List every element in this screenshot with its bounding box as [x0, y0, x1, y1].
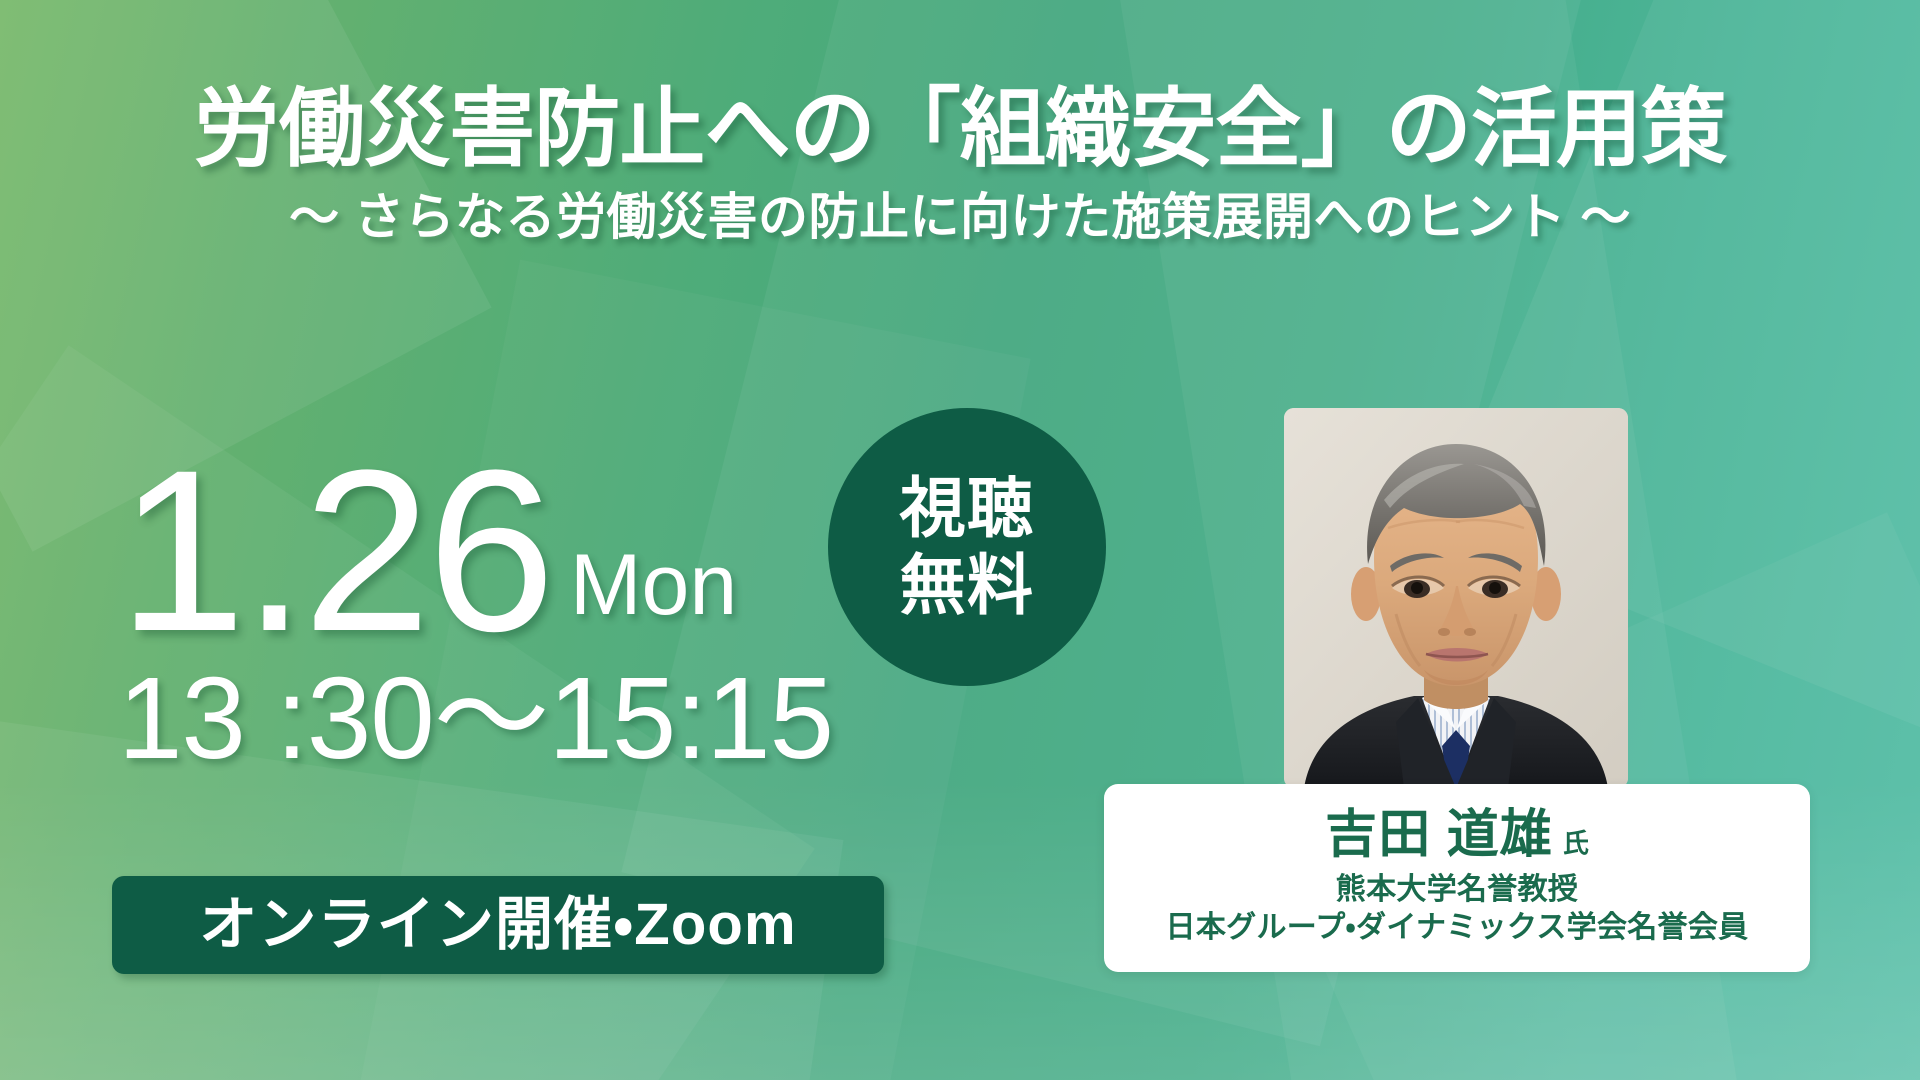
- headline-block: 労働災害防止への「組織安全」の活用策 ～ さらなる労働災害の防止に向けた施策展開…: [0, 86, 1920, 242]
- page-title: 労働災害防止への「組織安全」の活用策: [0, 86, 1920, 172]
- speaker-affiliation-line1: 熊本大学名誉教授: [1336, 871, 1578, 909]
- event-date: 1.26: [118, 452, 552, 650]
- free-viewing-label-line1: 視聴: [900, 470, 1035, 547]
- free-viewing-label-line2: 無料: [900, 547, 1035, 624]
- portrait-photo-icon: [1284, 408, 1628, 788]
- event-date-block: 1.26 Mon 13 :30〜15:15: [118, 452, 833, 776]
- speaker-photo: [1284, 408, 1628, 788]
- speaker-honorific: 氏: [1563, 830, 1589, 856]
- webinar-banner: 労働災害防止への「組織安全」の活用策 ～ さらなる労働災害の防止に向けた施策展開…: [0, 0, 1920, 1080]
- online-format-label: オンライン開催・Zoom: [199, 896, 797, 954]
- event-day-of-week: Mon: [570, 542, 737, 628]
- speaker-name: 吉田 道雄: [1325, 809, 1553, 861]
- online-format-badge: オンライン開催・Zoom: [112, 876, 884, 974]
- free-viewing-badge: 視聴 無料: [828, 408, 1106, 686]
- page-subtitle: ～ さらなる労働災害の防止に向けた施策展開へのヒント ～: [0, 192, 1920, 242]
- speaker-info-card: 吉田 道雄 氏 熊本大学名誉教授 日本グループ・ダイナミックス学会名誉会員: [1104, 784, 1810, 972]
- event-date-row: 1.26 Mon: [118, 452, 833, 650]
- speaker-name-row: 吉田 道雄 氏: [1325, 809, 1589, 861]
- speaker-affiliation-line2: 日本グループ・ダイナミックス学会名誉会員: [1166, 909, 1749, 947]
- event-time: 13 :30〜15:15: [118, 660, 833, 776]
